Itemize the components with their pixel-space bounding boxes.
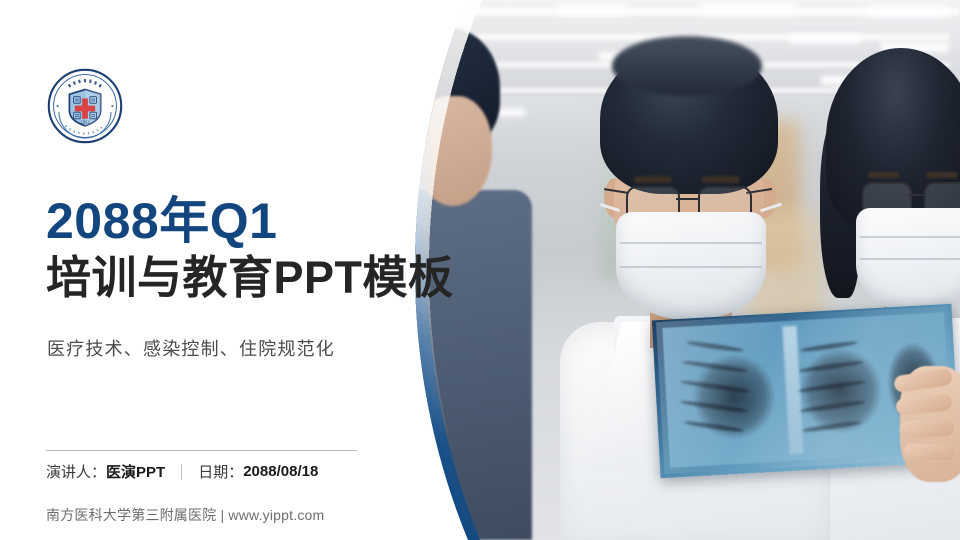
page-title-line2: 培训与教育PPT模板 [46,251,454,305]
source-line: 南方医科大学第三附属医院 | www.yippt.com [46,505,324,525]
footer-divider [46,450,357,451]
title-block: 2088年Q1 培训与教育PPT模板 [46,193,454,305]
svg-text:1951: 1951 [80,119,90,124]
doctor-female-eyebrow [926,172,958,178]
ceiling-light [788,34,862,44]
mask-fold [620,242,762,244]
mask-fold [620,266,762,268]
date-label: 日期： [198,461,243,482]
mask-fold [860,258,960,260]
ceiling-light [556,4,626,16]
ceiling-light [866,6,950,17]
doctor-female-eyebrow [868,172,900,178]
mask-fold [860,236,960,238]
doctor-male-glasses-bridge [676,198,698,200]
presenter-meta: 演讲人： 医演PPT 日期： 2088/08/18 [46,461,318,482]
doctor-male-eyebrow [634,176,672,183]
page-subtitle: 医疗技术、感染控制、住院规范化 [47,335,335,361]
date-value: 2088/08/18 [243,463,318,480]
presentation-title-slide: 1951 2088年Q1 培训与教育PPT模板 医疗技术、感染控制、住院规范化 … [0,0,960,540]
ceiling-light [700,2,796,14]
doctor-female-glasses-bridge [908,194,924,196]
meta-separator [181,464,182,480]
doctor-female-face-mask [856,208,960,312]
doctor-male-eyebrow [702,176,740,183]
speaker-label: 演讲人： [46,461,106,482]
hospital-logo: 1951 [47,68,123,144]
page-title-line1: 2088年Q1 [46,193,454,249]
speaker-value: 医演PPT [106,461,165,482]
doctor-male-hair-highlight [612,36,762,96]
background-person-face [414,96,492,206]
